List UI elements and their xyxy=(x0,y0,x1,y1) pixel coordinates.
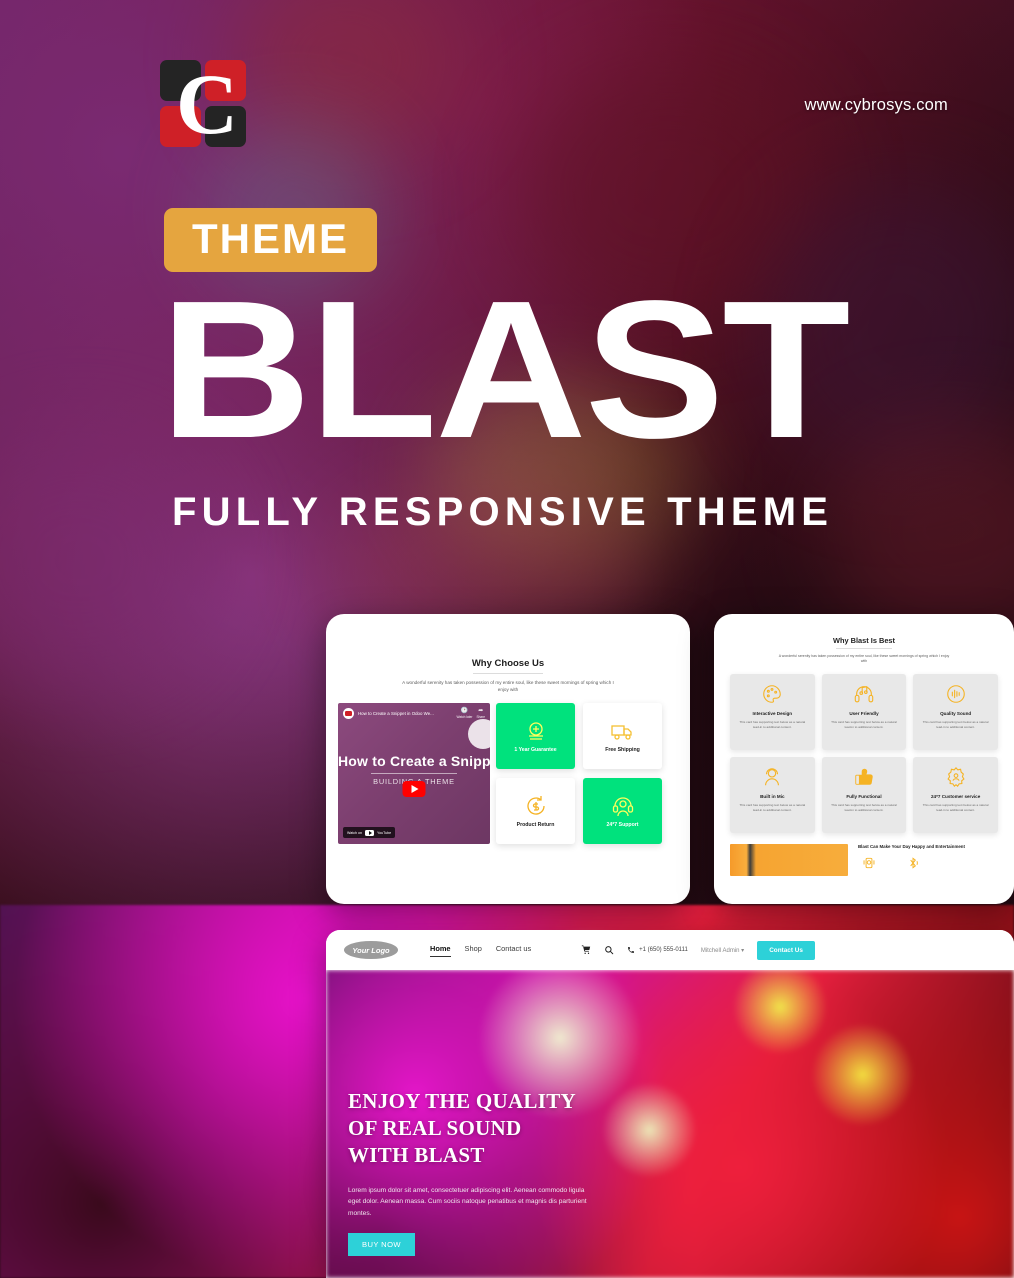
headphones-music-icon xyxy=(853,683,875,705)
card-text: This card has supporting text below as a… xyxy=(736,803,809,813)
site-hero: ENJOY THE QUALITY OF REAL SOUND WITH BLA… xyxy=(326,970,1014,1278)
card-text: This card has supporting text below as a… xyxy=(919,803,992,813)
poster-canvas: C www.cybrosys.com THEME BLAST FULLY RES… xyxy=(0,0,1014,1278)
page-subtitle: FULLY RESPONSIVE THEME xyxy=(172,490,833,535)
search-icon[interactable] xyxy=(604,945,614,955)
guarantee-badge-icon xyxy=(524,719,548,743)
delivery-truck-icon xyxy=(611,719,635,743)
nav-link-contact-us[interactable]: Contact us xyxy=(496,944,531,957)
screenshot-website-home: Your Logo Home Shop Contact us + xyxy=(326,930,1014,1278)
video-overlay-circle xyxy=(468,719,490,749)
card-text: This card has supporting text below as a… xyxy=(919,720,992,730)
card-title: 24*7 Customer service xyxy=(931,794,980,799)
video-top-bar: How to Create a Snippet in Odoo We... 🕑 … xyxy=(338,703,490,723)
chevron-down-icon: ▾ xyxy=(741,948,744,954)
platform-label: YouTube xyxy=(377,831,391,835)
video-title: How to Create a Snippet in Odoo We... xyxy=(358,711,452,716)
card-title: Built in Mic xyxy=(760,794,785,799)
promo-banner: Blast Can Make Your Day Happy and Entert… xyxy=(714,844,1014,876)
user-name: Mitchell Admin xyxy=(701,948,740,954)
title-divider xyxy=(836,648,892,649)
tile-label: Product Return xyxy=(517,822,555,828)
title-divider xyxy=(473,673,543,674)
screenshot-why-choose-us: Why Choose Us A wonderful serenity has t… xyxy=(326,614,690,904)
promo-banner-content: Blast Can Make Your Day Happy and Entert… xyxy=(858,844,965,870)
youtube-video-embed[interactable]: How to Create a Snippet in Odoo We... 🕑 … xyxy=(338,703,490,844)
site-navbar: Your Logo Home Shop Contact us + xyxy=(326,930,1014,970)
feature-card[interactable]: 24*7 Customer service This card has supp… xyxy=(913,757,998,833)
nav-link-shop[interactable]: Shop xyxy=(465,944,482,957)
site-phone[interactable]: +1 (650) 555-0111 xyxy=(627,946,688,954)
feature-tile[interactable]: 1 Year Guarantee xyxy=(496,703,575,769)
cybrosys-logo: C xyxy=(160,60,248,150)
feature-card[interactable]: Fully Functional This card has supportin… xyxy=(822,757,907,833)
contact-us-button[interactable]: Contact Us xyxy=(757,941,815,960)
feature-card[interactable]: Quality Sound This card has supporting t… xyxy=(913,674,998,750)
channel-avatar-icon xyxy=(343,708,354,719)
sound-wave-icon xyxy=(945,683,967,705)
tile-label: 1 Year Guarantee xyxy=(514,747,556,753)
buy-now-button[interactable]: BUY NOW xyxy=(348,1233,415,1256)
card-text: This card has supporting text below as a… xyxy=(828,803,901,813)
speaker-product-image xyxy=(730,844,848,876)
card-title: Quality Sound xyxy=(940,711,971,716)
phone-icon xyxy=(627,946,635,954)
palette-icon xyxy=(761,683,783,705)
speaker-icon xyxy=(862,856,876,870)
play-button-icon[interactable] xyxy=(403,781,426,797)
card-title: Interactive Design xyxy=(753,711,793,716)
feature-tile[interactable]: Product Return xyxy=(496,778,575,844)
site-hero-content: ENJOY THE QUALITY OF REAL SOUND WITH BLA… xyxy=(348,1088,590,1256)
hero-paragraph: Lorem ipsum dolor sit amet, consectetuer… xyxy=(348,1185,590,1220)
website-url: www.cybrosys.com xyxy=(805,96,948,115)
promo-banner-text: Blast Can Make Your Day Happy and Entert… xyxy=(858,844,965,849)
thumbs-up-icon xyxy=(853,766,875,788)
watch-later-button[interactable]: 🕑 Watch later xyxy=(456,707,472,719)
money-back-icon xyxy=(524,794,548,818)
youtube-icon xyxy=(365,830,374,836)
card-text: This card has supporting text below as a… xyxy=(736,720,809,730)
feature-tile[interactable]: Free Shipping xyxy=(583,703,662,769)
site-logo[interactable]: Your Logo xyxy=(344,941,398,959)
feature-card[interactable]: Interactive Design This card has support… xyxy=(730,674,815,750)
card-title: Fully Functional xyxy=(846,794,881,799)
tile-label: 24*7 Support xyxy=(607,822,639,828)
tile-label: Free Shipping xyxy=(605,747,640,753)
feature-card-grid: Interactive Design This card has support… xyxy=(714,674,1014,833)
video-heading-divider xyxy=(371,773,457,774)
feature-card[interactable]: Built in Mic This card has supporting te… xyxy=(730,757,815,833)
section-subtitle: A wonderful serenity has taken possessio… xyxy=(714,654,1014,664)
cart-icon[interactable] xyxy=(581,945,591,955)
watch-on-label: Watch on xyxy=(347,831,362,835)
feature-tiles: 1 Year Guarantee Free Shipping Product R… xyxy=(496,703,662,844)
user-menu[interactable]: Mitchell Admin ▾ xyxy=(701,947,744,954)
site-nav-actions: +1 (650) 555-0111 Mitchell Admin ▾ Conta… xyxy=(581,941,815,960)
bluetooth-icon xyxy=(906,856,920,870)
gear-user-icon xyxy=(945,766,967,788)
content-row: How to Create a Snippet in Odoo We... 🕑 … xyxy=(326,703,690,844)
card-text: This card has supporting text below as a… xyxy=(828,720,901,730)
support-agent-icon xyxy=(761,766,783,788)
clock-icon: 🕑 xyxy=(456,707,472,715)
watch-on-youtube-badge[interactable]: Watch on YouTube xyxy=(343,827,395,838)
headset-support-icon xyxy=(611,794,635,818)
hero-headline-line1: ENJOY THE QUALITY xyxy=(348,1088,590,1115)
logo-letter: C xyxy=(176,54,236,154)
page-title: BLAST xyxy=(160,272,848,468)
screenshot-why-blast-is-best: Why Blast Is Best A wonderful serenity h… xyxy=(714,614,1014,904)
feature-tile[interactable]: 24*7 Support xyxy=(583,778,662,844)
card-title: User Friendly xyxy=(849,711,878,716)
video-heading: How to Create a Snippet xyxy=(338,753,490,769)
section-title: Why Blast Is Best xyxy=(714,636,1014,645)
section-title: Why Choose Us xyxy=(326,658,690,669)
promo-banner-icons xyxy=(858,856,965,870)
hero-headline-line2: OF REAL SOUND xyxy=(348,1115,590,1142)
share-icon: ➦ xyxy=(476,707,485,715)
feature-card[interactable]: User Friendly This card has supporting t… xyxy=(822,674,907,750)
nav-link-home[interactable]: Home xyxy=(430,944,451,957)
section-subtitle: A wonderful serenity has taken possessio… xyxy=(326,680,690,693)
hero-headline-line3: WITH BLAST xyxy=(348,1142,590,1169)
site-nav-links: Home Shop Contact us xyxy=(430,944,531,957)
share-button[interactable]: ➦ Share xyxy=(476,707,485,719)
site-phone-number: +1 (650) 555-0111 xyxy=(639,947,688,953)
